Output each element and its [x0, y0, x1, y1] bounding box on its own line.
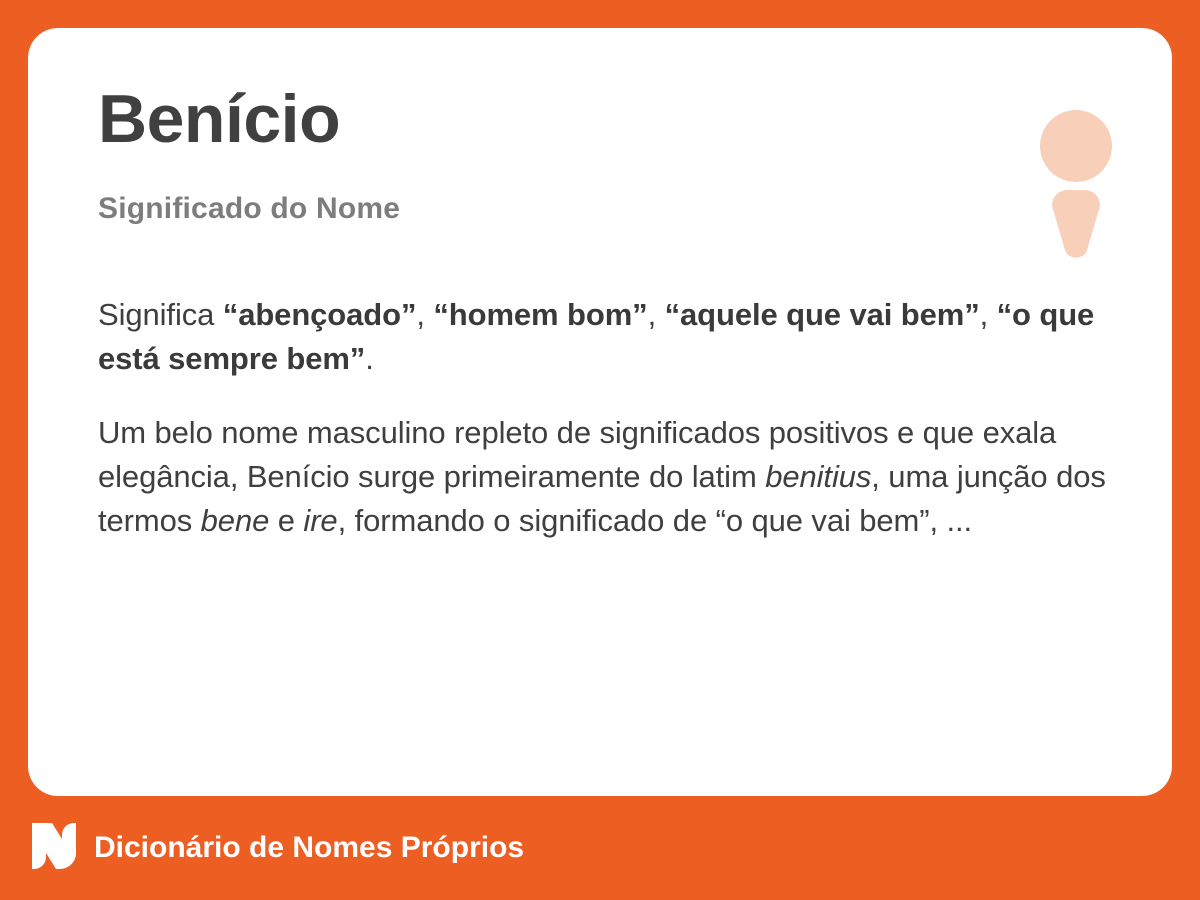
page-title: Benício: [98, 84, 400, 155]
heading-group: Benício Significado do Nome: [70, 84, 400, 227]
text-run: .: [365, 341, 374, 376]
section-label: Significado do Nome: [98, 191, 400, 227]
letter-n-logo-icon: [32, 823, 76, 874]
content-card: Benício Significado do Nome Significa “a…: [28, 28, 1172, 796]
text-run: ,: [980, 297, 997, 332]
emphasis-bold: “abençoado”: [223, 297, 417, 332]
body-copy: Significa “abençoado”, “homem bom”, “aqu…: [70, 293, 1118, 543]
name-meaning-card-page: Benício Significado do Nome Significa “a…: [0, 0, 1200, 900]
emphasis-bold: “aquele que vai bem”: [665, 297, 980, 332]
text-run: ,: [416, 297, 433, 332]
card-header: Benício Significado do Nome: [70, 84, 1118, 263]
paragraph-meaning-detail: Um belo nome masculino repleto de signif…: [98, 411, 1108, 543]
text-run: Significa: [98, 297, 223, 332]
text-run: e: [269, 503, 303, 538]
person-icon: [1040, 110, 1112, 263]
emphasis-bold: “homem bom”: [433, 297, 647, 332]
emphasis-italic: benitius: [765, 459, 871, 494]
brand-name: Dicionário de Nomes Próprios: [94, 833, 524, 863]
emphasis-italic: bene: [201, 503, 270, 538]
paragraph-meaning-summary: Significa “abençoado”, “homem bom”, “aqu…: [98, 293, 1108, 381]
emphasis-italic: ire: [303, 503, 337, 538]
text-run: ,: [648, 297, 665, 332]
text-run: , formando o significado de “o que vai b…: [338, 503, 973, 538]
footer-brand-bar: Dicionário de Nomes Próprios: [0, 796, 1200, 900]
